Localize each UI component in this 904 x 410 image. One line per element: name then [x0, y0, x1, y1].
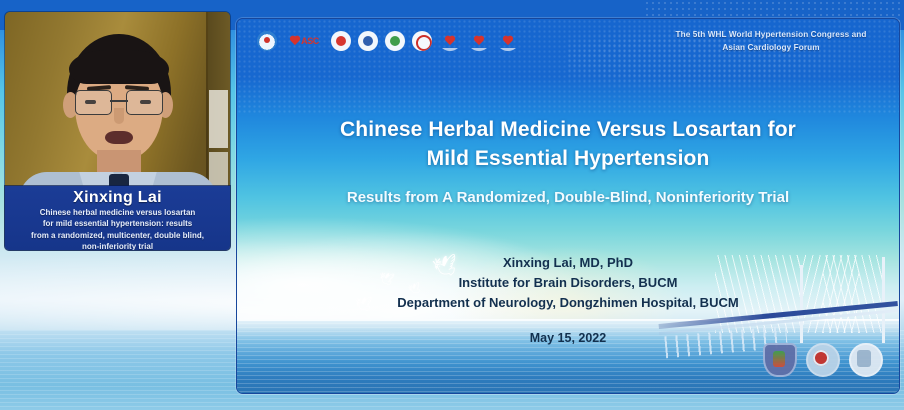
institution-seal-row: [763, 343, 883, 377]
slide-header-band: ASC The 5th WHL World Hypertension Congr…: [237, 19, 899, 63]
slide-title-line-1: Chinese Herbal Medicine Versus Losartan …: [277, 115, 859, 144]
slide-affiliation-2: Department of Neurology, Dongzhimen Hosp…: [277, 293, 859, 313]
bucm-shield-seal-icon: [763, 343, 797, 377]
conference-title: The 5th WHL World Hypertension Congress …: [661, 28, 881, 54]
dongzhimen-hospital-seal-icon: [806, 343, 840, 377]
slide-author-block: Xinxing Lai, MD, PhD Institute for Brain…: [277, 253, 859, 313]
speaker-talk-title-line-2: for mild essential hypertension: results: [10, 219, 225, 229]
bridge-pylon-2: [882, 257, 885, 343]
glasses-bridge: [110, 100, 128, 102]
slide-author-name: Xinxing Lai, MD, PhD: [277, 253, 859, 273]
glasses-lens-left: [75, 90, 112, 115]
speaker-talk-title-line-1: Chinese herbal medicine versus losartan: [10, 208, 225, 218]
video-conference-stage: Xinxing Lai Chinese herbal medicine vers…: [0, 0, 904, 410]
speaker-talk-title-line-3: from a randomized, multicenter, double b…: [10, 231, 225, 241]
cardiology-society-logo-icon: [412, 31, 432, 51]
hair-fringe: [69, 50, 169, 84]
speaker-nameplate: Xinxing Lai Chinese herbal medicine vers…: [5, 186, 230, 250]
sponsor-logo-row: ASC: [257, 31, 519, 51]
nose: [114, 108, 124, 124]
cma-logo-icon: [358, 31, 378, 51]
asc-logo-text: ASC: [301, 36, 319, 46]
congress-host-logo-icon: [439, 31, 461, 51]
shared-presentation-slide[interactable]: 🕊 🕊 🕊 🕊 ASC: [236, 18, 900, 394]
slide-title: Chinese Herbal Medicine Versus Losartan …: [277, 115, 859, 173]
mouth: [105, 131, 133, 144]
chinese-hypertension-league-logo-icon: [385, 31, 405, 51]
slide-subtitle: Results from A Randomized, Double-Blind,…: [277, 187, 859, 209]
speaker-name: Xinxing Lai: [73, 188, 162, 207]
glasses-lens-right: [126, 90, 163, 115]
institute-seal-icon: [849, 343, 883, 377]
conference-title-line-1: The 5th WHL World Hypertension Congress …: [661, 28, 881, 41]
whl-logo-icon: [257, 31, 277, 51]
conference-title-line-2: Asian Cardiology Forum: [661, 41, 881, 54]
partner-society-logo-icon: [468, 31, 490, 51]
csc-logo-icon: [331, 31, 351, 51]
slide-affiliation-1: Institute for Brain Disorders, BUCM: [277, 273, 859, 293]
heart-health-logo-icon: [497, 31, 519, 51]
slide-title-line-2: Mild Essential Hypertension: [277, 144, 859, 173]
asc-logo-icon: ASC: [284, 31, 324, 51]
speaker-talk-title-line-4: non-inferiority trial: [10, 242, 225, 250]
